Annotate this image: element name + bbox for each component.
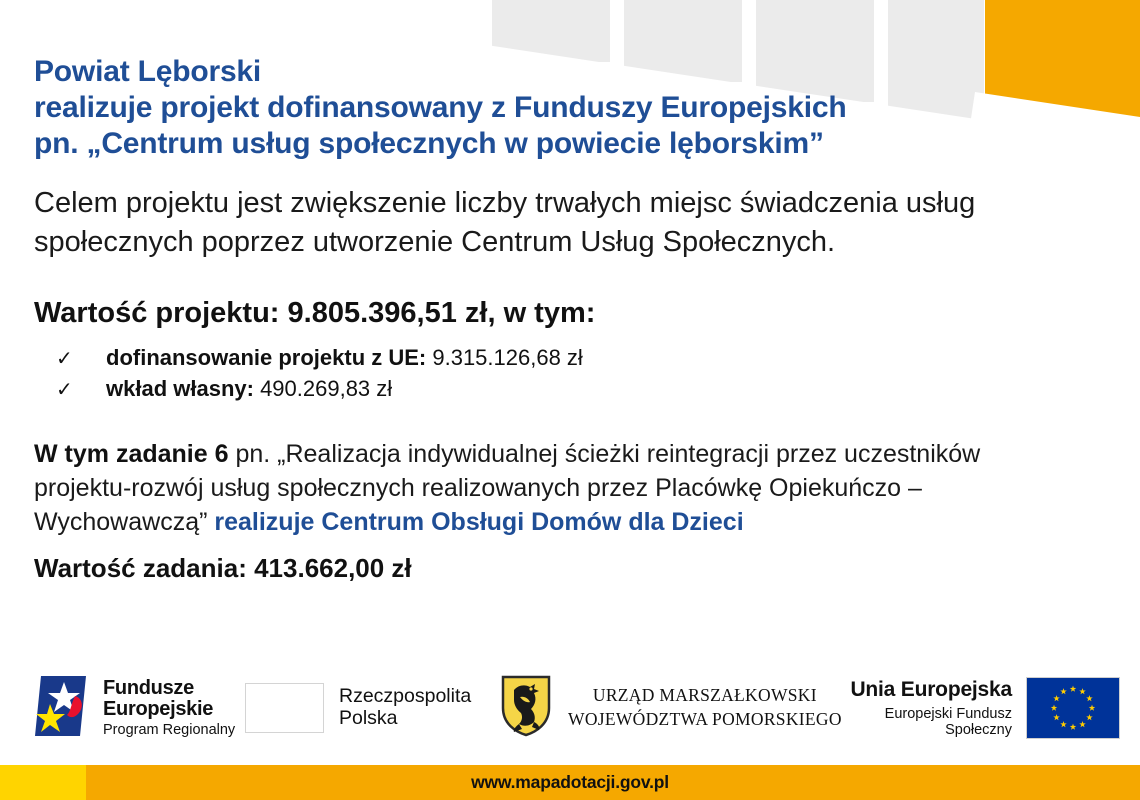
rzeczpospolita-polska-label: Rzeczpospolita Polska (339, 686, 471, 730)
footer-url: www.mapadotacji.gov.pl (0, 765, 1140, 800)
pl-line-1: Rzeczpospolita (339, 686, 471, 708)
logo-urzad-marszalkowski: URZĄD MARSZAŁKOWSKI WOJEWÓDZTWA POMORSKI… (500, 674, 830, 743)
gray-stripe-1 (492, 0, 610, 62)
bullet-value: 9.315.126,68 zł (432, 345, 582, 370)
bullet-label: wkład własny: (106, 376, 260, 401)
task-paragraph: W tym zadanie 6 pn. „Realizacja indywidu… (34, 437, 1054, 539)
headline-line-2: realizuje projekt dofinansowany z Fundus… (34, 90, 1104, 126)
fe-line-3: Program Regionalny (103, 723, 235, 738)
logo-fundusze-europejskie: Fundusze Europejskie Program Regionalny (30, 674, 245, 743)
logo-unia-europejska: Unia Europejska Europejski Fundusz Społe… (830, 677, 1120, 739)
um-line-2: WOJEWÓDZTWA POMORSKIEGO (568, 708, 842, 732)
fe-line-1: Fundusze (103, 678, 235, 699)
value-breakdown-list: ✓ dofinansowanie projektu z UE: 9.315.12… (56, 343, 1104, 405)
list-item: ✓ dofinansowanie projektu z UE: 9.315.12… (56, 343, 1104, 374)
page-title: Powiat Lęborski realizuje projekt dofina… (34, 54, 1104, 162)
urzad-marszalkowski-label: URZĄD MARSZAŁKOWSKI WOJEWÓDZTWA POMORSKI… (568, 684, 842, 731)
poster-content: Powiat Lęborski realizuje projekt dofina… (34, 54, 1104, 583)
european-union-flag-icon (1026, 677, 1120, 739)
fundusze-europejskie-stars-icon (30, 674, 92, 743)
pl-line-2: Polska (339, 708, 471, 730)
ue-line-1: Unia Europejska (830, 678, 1012, 702)
task-strong-prefix: W tym zadanie 6 (34, 440, 229, 468)
um-line-1: URZĄD MARSZAŁKOWSKI (568, 684, 842, 708)
headline-line-3: pn. „Centrum usług społecznych w powieci… (34, 126, 1104, 162)
poster-root: Powiat Lęborski realizuje projekt dofina… (0, 0, 1140, 800)
bullet-value: 490.269,83 zł (260, 376, 392, 401)
poland-flag-icon (245, 683, 324, 733)
logo-bar: Fundusze Europejskie Program Regionalny … (30, 668, 1120, 748)
fe-line-2: Europejskie (103, 699, 235, 720)
headline-line-1: Powiat Lęborski (34, 54, 1104, 90)
unia-europejska-label: Unia Europejska Europejski Fundusz Społe… (830, 678, 1012, 738)
check-icon: ✓ (56, 375, 106, 405)
task-blue-suffix: realizuje Centrum Obsługi Domów dla Dzie… (214, 508, 743, 536)
pomeranian-griffin-coat-of-arms-icon (500, 674, 552, 743)
task-value-line: Wartość zadania: 413.662,00 zł (34, 553, 1104, 583)
check-icon: ✓ (56, 344, 106, 374)
list-item: ✓ wkład własny: 490.269,83 zł (56, 374, 1104, 405)
goal-paragraph: Celem projektu jest zwiększenie liczby t… (34, 184, 994, 262)
logo-rzeczpospolita-polska: Rzeczpospolita Polska (245, 683, 500, 733)
bullet-label: dofinansowanie projektu z UE: (106, 345, 432, 370)
footer-bar: www.mapadotacji.gov.pl (0, 765, 1140, 800)
ue-line-2: Europejski Fundusz Społeczny (830, 706, 1012, 738)
project-value-line: Wartość projektu: 9.805.396,51 zł, w tym… (34, 296, 1104, 330)
fundusze-europejskie-label: Fundusze Europejskie Program Regionalny (103, 678, 235, 739)
